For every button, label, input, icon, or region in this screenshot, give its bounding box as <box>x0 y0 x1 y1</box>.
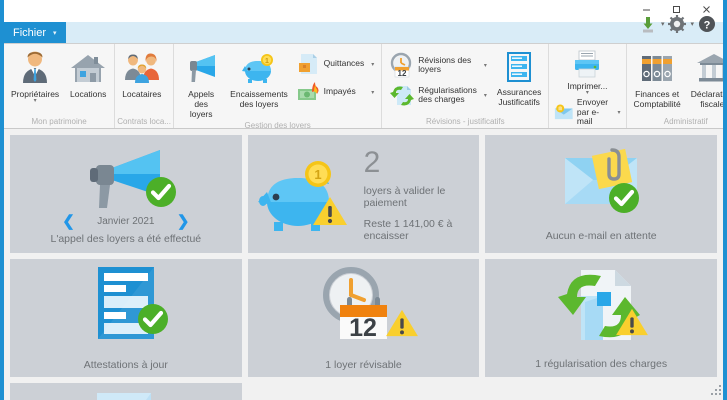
megaphone-icon <box>182 49 220 87</box>
file-menu-tab[interactable]: Fichier ▾ <box>4 22 66 43</box>
tile-caption: 1 loyer révisable <box>325 359 401 371</box>
tile-artwork <box>81 389 171 400</box>
dashboard-tile-charge-adjustments[interactable]: 1 régularisation des charges <box>485 259 717 377</box>
dashboard-tile-revisable-rents[interactable]: 12 1 loyer révisable <box>248 259 480 377</box>
svg-text:1: 1 <box>314 167 321 182</box>
ribbon-button-label: Régularisations des charges <box>418 86 477 105</box>
ribbon-group-contrats-locatifs: Locataires Contrats loca... <box>115 44 174 128</box>
owner-icon <box>16 49 54 87</box>
status-badge <box>312 195 348 232</box>
dashboard-tile-rent-call[interactable]: ❮ Janvier 2021 ❯ L'appel des loyers a ét… <box>10 135 242 253</box>
chevron-down-icon[interactable]: ▾ <box>690 20 694 28</box>
ribbon-button-label: Impayés <box>324 87 356 97</box>
tile-artwork <box>553 266 649 346</box>
house-icon <box>69 49 107 87</box>
check-circle-icon <box>144 175 178 209</box>
ribbon-group-label: Contrats loca... <box>117 115 171 128</box>
tile-caption: Aucun e-mail en attente <box>546 230 657 242</box>
dashboard-tile-certificates[interactable]: Attestations à jour <box>10 259 242 377</box>
ribbon-group-gestion-des-loyers: Appels des loyers 1 E <box>174 44 382 128</box>
resize-grip[interactable] <box>710 383 722 395</box>
period-navigator: ❮ Janvier 2021 ❯ <box>62 214 189 229</box>
quick-access-toolbar: ▾ ▾ ? <box>638 14 717 34</box>
ribbon-button-label: Révisions des loyers <box>418 56 471 75</box>
warning-triangle-icon <box>312 195 348 227</box>
tenants-icon <box>123 49 161 87</box>
ribbon-button-label: Quittances <box>324 59 365 69</box>
ribbon-button-label: Déclarations fiscales <box>691 89 723 109</box>
warning-triangle-icon <box>615 307 649 337</box>
ribbon-group-label: Mon patrimoine <box>6 115 112 128</box>
ribbon-group-documents: Imprimer... ▾ Envoyer par e-mail ▾ Docum… <box>549 44 626 128</box>
ribbon-button-locations[interactable]: Locations <box>64 47 112 99</box>
status-badge <box>615 307 649 342</box>
ribbon-button-label: Locations <box>70 89 106 99</box>
stat-line-1: loyers à valider le paiement <box>364 185 474 209</box>
tile-artwork: 12 <box>313 265 413 345</box>
file-menu-label: Fichier <box>13 27 46 39</box>
ribbon-button-appels-des-loyers[interactable]: Appels des loyers <box>176 47 226 119</box>
ribbon-group-administratif: Finances et Comptabilité Déclarations fi… <box>627 44 723 128</box>
ribbon-group-label: Gestion des loyers <box>176 119 379 128</box>
receipt-icon <box>297 52 321 76</box>
burning-money-icon <box>297 80 321 104</box>
ribbon-button-label: Encaissements des loyers <box>230 89 288 109</box>
recycle-doc-icon <box>389 82 415 108</box>
chevron-down-icon: ▾ <box>53 29 57 37</box>
tile-caption: Attestations à jour <box>84 359 168 371</box>
dashboard-tile-payments-to-validate[interactable]: 1 2 loyers à valider le paiement Reste 1… <box>248 135 480 253</box>
ribbon-group-label: Révisions - justificatifs <box>384 115 546 128</box>
ribbon-button-locataires[interactable]: Locataires <box>117 47 166 99</box>
download-icon[interactable] <box>638 14 658 34</box>
ribbon-toolbar: Propriétaires ▾ Locations Mon patrimoine <box>4 44 723 129</box>
ribbon-button-label: Appels des loyers <box>181 89 221 119</box>
chevron-down-icon[interactable]: ▾ <box>480 62 487 69</box>
archive-icon <box>501 49 537 85</box>
dashboard-tile-lease-renewals[interactable]: Aucun bail à renouveler <box>10 383 242 400</box>
ribbon-button-label: Assurances Justificatifs <box>497 87 541 107</box>
chevron-down-icon[interactable]: ▾ <box>367 61 374 68</box>
tile-artwork: 1 <box>254 154 346 234</box>
check-circle-icon <box>136 302 170 336</box>
tile-artwork <box>555 146 647 214</box>
ribbon-button-declarations-fiscales[interactable]: Déclarations fiscales <box>686 47 723 109</box>
status-badge <box>385 308 419 343</box>
chevron-down-icon[interactable]: ▾ <box>661 20 665 28</box>
piggy-bank-icon: 1 <box>240 49 278 87</box>
printer-icon <box>572 49 602 79</box>
status-badge <box>144 175 178 214</box>
next-period-button[interactable]: ❯ <box>177 214 190 229</box>
dashboard-tile-pending-emails[interactable]: Aucun e-mail en attente <box>485 135 717 253</box>
svg-text:12: 12 <box>398 69 407 78</box>
chevron-down-icon[interactable]: ▾ <box>614 109 621 116</box>
ribbon-button-quittances[interactable]: Quittances ▾ <box>294 50 378 78</box>
stat-line-2: Reste 1 141,00 € à encaisser <box>364 218 474 242</box>
clock-calendar-icon: 12 <box>389 52 415 78</box>
ribbon-button-label: Locataires <box>122 89 161 99</box>
tile-artwork <box>90 265 162 345</box>
svg-text:1: 1 <box>265 58 269 65</box>
prev-period-button[interactable]: ❮ <box>62 214 75 229</box>
status-badge <box>136 302 170 341</box>
check-circle-icon <box>607 181 641 215</box>
svg-text:?: ? <box>704 20 711 32</box>
send-mail-icon <box>554 101 574 123</box>
ribbon-button-label: Envoyer par e-mail <box>577 98 611 127</box>
ribbon-group-mon-patrimoine: Propriétaires ▾ Locations Mon patrimoine <box>4 44 115 128</box>
help-icon[interactable]: ? <box>697 14 717 34</box>
tile-statistics: 2 loyers à valider le paiement Reste 1 1… <box>364 147 474 242</box>
ribbon-button-encaissements-des-loyers[interactable]: 1 Encaissements des loyers <box>226 47 291 109</box>
ribbon-group-label: Administratif <box>629 115 723 128</box>
chevron-down-icon[interactable]: ▾ <box>480 92 487 99</box>
ribbon-button-revisions-des-loyers[interactable]: 12 Révisions des loyers ▾ <box>386 50 490 80</box>
ribbon-button-proprietaires[interactable]: Propriétaires ▾ <box>6 47 64 104</box>
signature-icon <box>81 389 171 400</box>
tile-caption: L'appel des loyers a été effectué <box>50 233 201 245</box>
tile-caption: 1 régularisation des charges <box>535 358 667 370</box>
period-label: Janvier 2021 <box>91 216 161 227</box>
ribbon-button-impayes[interactable]: Impayés ▾ <box>294 78 378 106</box>
calendar-day-label: 12 <box>350 314 378 342</box>
ribbon-group-revisions-justificatifs: 12 Révisions des loyers ▾ Régularisation… <box>382 44 549 128</box>
tile-artwork <box>78 144 174 212</box>
bank-icon <box>695 49 723 87</box>
menu-strip: Fichier ▾ ▾ <box>4 22 723 44</box>
warning-triangle-icon <box>385 308 419 338</box>
ribbon-button-regularisations-des-charges[interactable]: Régularisations des charges ▾ <box>386 80 490 110</box>
title-bar <box>4 0 723 22</box>
ribbon-button-assurances-justificatifs[interactable]: Assurances Justificatifs <box>492 47 546 107</box>
gear-icon[interactable] <box>667 14 687 34</box>
ribbon-button-label: Finances et Comptabilité <box>634 89 681 109</box>
dashboard-grid: ❮ Janvier 2021 ❯ L'appel des loyers a ét… <box>4 129 723 400</box>
chevron-down-icon[interactable]: ▾ <box>367 89 374 96</box>
binders-icon <box>638 49 676 87</box>
app-window: Fichier ▾ ▾ <box>0 0 727 400</box>
ribbon-button-finances-et-comptabilite[interactable]: Finances et Comptabilité <box>629 47 686 109</box>
status-badge <box>607 181 641 220</box>
ribbon-button-imprimer[interactable]: Imprimer... ▾ <box>562 47 612 96</box>
chevron-down-icon[interactable]: ▾ <box>34 99 37 104</box>
ribbon-button-envoyer-par-email[interactable]: Envoyer par e-mail ▾ <box>551 96 623 129</box>
stat-count: 2 <box>364 147 381 179</box>
